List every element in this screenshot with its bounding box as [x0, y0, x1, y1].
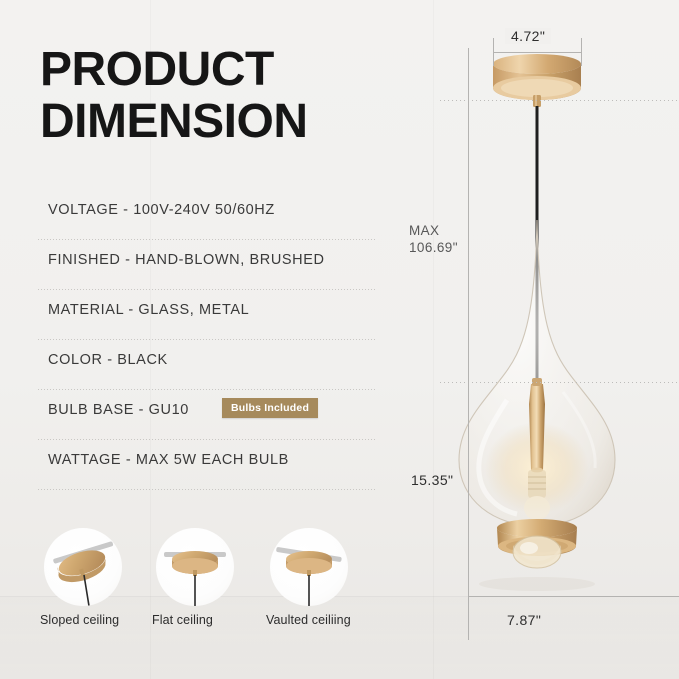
mounting-option-sloped: Sloped ceiling	[40, 528, 160, 627]
pendant-light-illustration	[395, 0, 679, 679]
flat-ceiling-icon	[156, 528, 234, 606]
product-dimension-infographic: PRODUCT DIMENSION VOLTAGE - 100V-240V 50…	[0, 0, 679, 679]
dim-label-max-value: 106.69"	[409, 239, 458, 256]
mounting-label-sloped: Sloped ceiling	[40, 613, 160, 627]
product-diagram: 4.72" MAX 106.69" 15.35" 7.87"	[395, 0, 679, 679]
guide-line-shade-top	[440, 382, 679, 383]
gold-cone-stem	[529, 378, 545, 472]
page-title-line2: DIMENSION	[40, 96, 390, 148]
dim-label-shade-width: 7.87"	[507, 612, 541, 628]
spec-row-voltage: VOLTAGE - 100V-240V 50/60HZ	[38, 190, 376, 240]
mounting-label-flat: Flat ceiling	[152, 613, 272, 627]
mounting-option-vaulted: Vaulted ceiliing	[266, 528, 386, 627]
spec-row-material: MATERIAL - GLASS, METAL	[38, 290, 376, 340]
max-height-line	[468, 48, 469, 640]
dim-label-max-height: MAX 106.69"	[409, 222, 458, 256]
spec-text-finished: FINISHED - HAND-BLOWN, BRUSHED	[48, 252, 325, 268]
spec-row-wattage: WATTAGE - MAX 5W EACH BULB	[38, 440, 376, 490]
page-title: PRODUCT DIMENSION	[40, 44, 390, 148]
spec-text-color: COLOR - BLACK	[48, 352, 168, 368]
canopy-width-line	[493, 52, 582, 53]
shade-width-line	[468, 596, 679, 597]
status-badge-bulbs-included: Bulbs Included	[222, 398, 318, 418]
sloped-ceiling-icon	[44, 528, 122, 606]
spec-text-voltage: VOLTAGE - 100V-240V 50/60HZ	[48, 202, 275, 218]
spec-row-color: COLOR - BLACK	[38, 340, 376, 390]
spec-text-bulb-base: BULB BASE - GU10	[48, 402, 189, 418]
dim-label-canopy-width: 4.72"	[505, 28, 551, 44]
spec-row-bulb-base: BULB BASE - GU10 Bulbs Included	[38, 390, 376, 440]
spec-text-wattage: WATTAGE - MAX 5W EACH BULB	[48, 452, 289, 468]
mounting-label-vaulted: Vaulted ceiliing	[266, 613, 386, 627]
spec-list: VOLTAGE - 100V-240V 50/60HZ FINISHED - H…	[38, 190, 376, 490]
spec-row-finished: FINISHED - HAND-BLOWN, BRUSHED	[38, 240, 376, 290]
guide-line-canopy-bottom	[440, 100, 679, 101]
spec-panel: PRODUCT DIMENSION VOLTAGE - 100V-240V 50…	[0, 0, 400, 679]
dim-label-shade-height: 15.35"	[411, 472, 453, 488]
spec-text-material: MATERIAL - GLASS, METAL	[48, 302, 249, 318]
gold-base-ring	[497, 519, 577, 568]
page-title-line1: PRODUCT	[40, 43, 274, 96]
spec-divider	[38, 489, 376, 490]
vaulted-ceiling-icon	[270, 528, 348, 606]
dim-label-max-prefix: MAX	[409, 222, 458, 239]
mounting-option-flat: Flat ceiling	[152, 528, 272, 627]
